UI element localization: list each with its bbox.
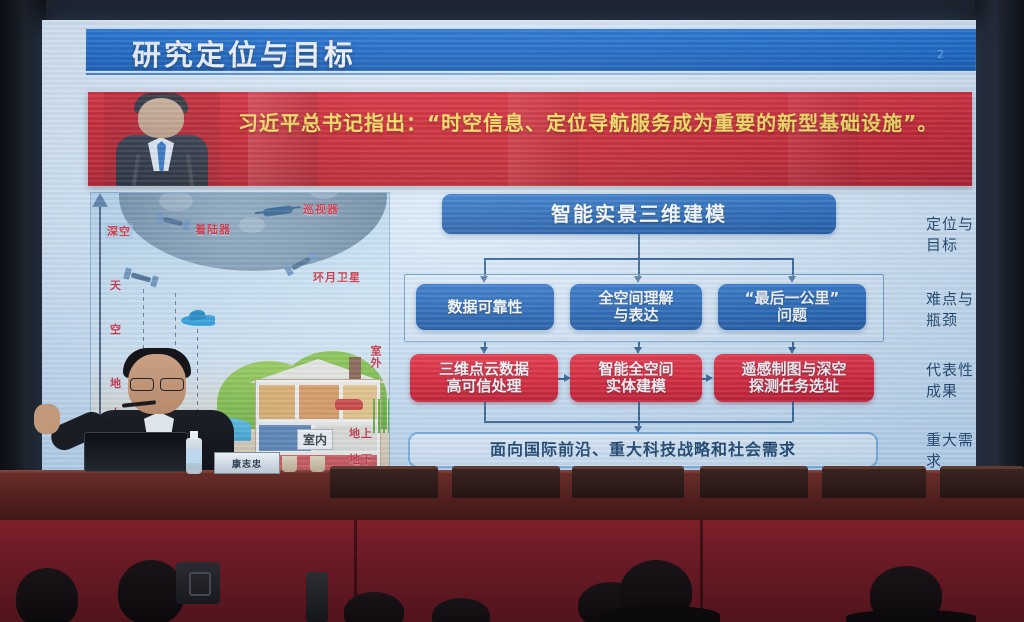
grass <box>373 399 390 433</box>
paper-cup <box>282 456 297 472</box>
page-title: 研究定位与目标 <box>132 32 356 74</box>
box-line: 探测任务选址 <box>749 377 839 395</box>
box-line: 三维点云数据 <box>439 360 529 378</box>
slide-page-number: 2 <box>937 48 944 61</box>
quote-banner: 习近平总书记指出：“时空信息、定位导航服务成为重要的新型基础设施”。 <box>88 92 972 186</box>
banner-quote-text: 习近平总书记指出：“时空信息、定位导航服务成为重要的新型基础设施”。 <box>238 108 958 139</box>
crater <box>239 217 265 233</box>
audience-shoulders <box>600 606 720 622</box>
box-line: “最后一公里” <box>745 289 840 307</box>
flow-box-full-space-understanding[interactable]: 全空间理解 与表达 <box>570 284 702 330</box>
crater <box>309 192 339 199</box>
flow-box-entity-modeling[interactable]: 智能全空间 实体建模 <box>570 354 702 402</box>
bottle-label <box>186 450 202 463</box>
research-flowchart: 智能实景三维建模 数据可靠性 全空间理解 与表达 “最后一公里” 问题 <box>398 192 914 480</box>
moon-graphic <box>119 192 387 271</box>
box-line: 高可信处理 <box>446 377 521 395</box>
chair <box>330 466 438 498</box>
laptop <box>84 432 188 472</box>
house-room <box>259 385 295 419</box>
wall-left <box>0 0 46 520</box>
box-line: 问题 <box>777 306 807 324</box>
car-icon <box>335 399 363 410</box>
box-line: 数据可靠性 <box>447 298 522 316</box>
label-rover: 巡视器 <box>303 201 339 217</box>
chimney <box>349 357 361 379</box>
side-label-major-demand: 重大需求 <box>926 429 976 471</box>
conference-room: 研究定位与目标 2 习近平总书记指出：“时空信息、定位导航服务成为重要的新型基础… <box>0 0 1024 622</box>
flow-box-data-reliability[interactable]: 数据可靠性 <box>416 284 554 330</box>
title-divider <box>86 73 976 75</box>
label-sky: 天 <box>110 277 122 293</box>
flow-box-point-cloud[interactable]: 三维点云数据 高可信处理 <box>410 354 558 402</box>
connector <box>638 402 640 428</box>
audience-shoulders <box>846 610 976 622</box>
arrow-icon <box>788 347 796 354</box>
arrow-icon <box>564 374 571 382</box>
aircraft-icon <box>181 315 215 326</box>
flow-box-last-mile[interactable]: “最后一公里” 问题 <box>718 284 866 330</box>
side-label-positioning: 定位与目标 <box>926 213 976 255</box>
label-indoor: 室内 <box>297 429 333 450</box>
wall-right <box>975 0 1024 520</box>
crater <box>159 192 193 211</box>
water-bottle <box>186 438 202 474</box>
label-under-ground: 地下 <box>349 451 373 467</box>
box-line: 全空间理解 <box>598 289 673 307</box>
glasses-icon <box>130 378 184 389</box>
portrait-photo <box>104 92 220 186</box>
side-label-achievements: 代表性成果 <box>926 359 976 401</box>
label-orbiter: 环月卫星 <box>313 269 361 285</box>
name-plate: 康志忠 <box>214 452 280 474</box>
chair <box>822 466 926 498</box>
box-line: 实体建模 <box>606 377 666 395</box>
connector <box>484 402 486 422</box>
box-line: 智能全空间 <box>598 360 673 378</box>
video-camera-icon <box>176 562 220 604</box>
axis-arrow-icon <box>92 193 108 207</box>
label-outdoor: 室外 <box>367 345 383 369</box>
paper-cup <box>310 456 325 472</box>
flow-top-box[interactable]: 智能实景三维建模 <box>442 194 836 234</box>
chair <box>700 466 808 498</box>
chair <box>572 466 684 498</box>
box-line: 遥感制图与深空 <box>741 360 846 378</box>
wall-seam <box>700 520 703 622</box>
connector <box>638 234 640 260</box>
label-air: 空 <box>110 321 122 337</box>
arrow-icon <box>706 374 713 382</box>
chair <box>940 466 1024 498</box>
satellite-icon <box>131 272 152 282</box>
banner-fold <box>508 92 578 186</box>
label-lander: 着陆器 <box>195 221 231 237</box>
arrow-icon <box>634 347 642 354</box>
box-line: 与表达 <box>613 306 658 324</box>
side-label-bottleneck: 难点与瓶颈 <box>926 288 976 330</box>
name-plate-text: 康志忠 <box>232 457 262 470</box>
flow-box-remote-sensing[interactable]: 遥感制图与深空 探测任务选址 <box>714 354 874 402</box>
banner-fold <box>248 92 318 186</box>
banner-fold <box>788 92 858 186</box>
slide-title-bar: 研究定位与目标 2 <box>86 29 976 71</box>
ceiling-glow <box>46 0 976 20</box>
house-room <box>299 385 339 419</box>
tripod <box>306 572 328 622</box>
chair <box>452 466 560 498</box>
arrow-icon <box>480 347 488 354</box>
label-above-ground: 地上 <box>349 425 373 441</box>
speaker-hand <box>34 404 60 434</box>
portrait-head <box>138 98 184 138</box>
label-deep-space: 深空 <box>105 223 133 239</box>
audience-head <box>118 560 184 622</box>
audience-head <box>16 568 78 622</box>
flow-bottom-box[interactable]: 面向国际前沿、重大科技战略和社会需求 <box>408 432 878 468</box>
connector <box>792 402 794 422</box>
